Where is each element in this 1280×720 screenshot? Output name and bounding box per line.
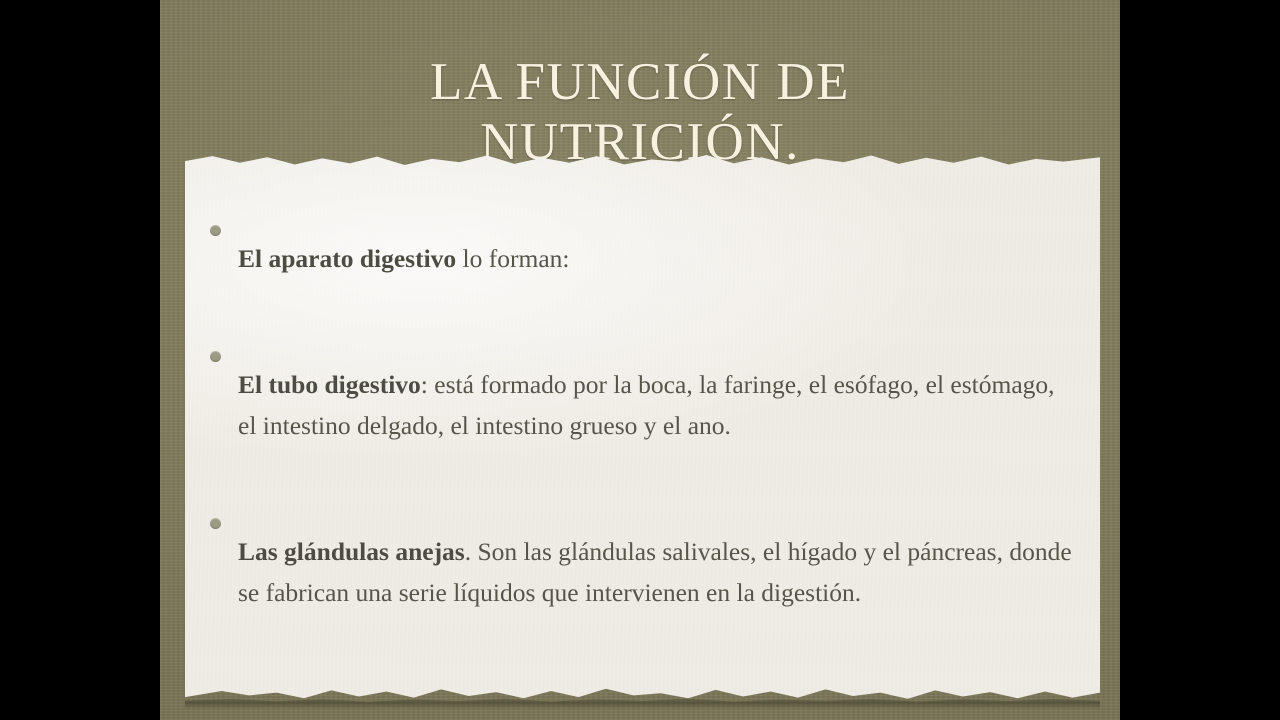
list-item: El tubo digestivo: está formado por la b… <box>210 338 1078 471</box>
bullet-lead: El aparato digestivo <box>238 244 456 273</box>
bullet-lead: El tubo digestivo <box>238 370 421 399</box>
list-item: El aparato digestivo lo forman: <box>210 212 1078 304</box>
presentation-stage: LA FUNCIÓN DE NUTRICIÓN. El aparato dige… <box>0 0 1280 720</box>
bullet-text: El aparato digestivo lo forman: <box>238 238 1078 279</box>
letterbox-right <box>1120 0 1280 720</box>
round-bullet-icon <box>210 225 221 236</box>
round-bullet-icon <box>210 351 221 362</box>
bullet-rest: lo forman: <box>456 244 569 273</box>
round-bullet-icon <box>210 518 221 529</box>
bullet-text: El tubo digestivo: está formado por la b… <box>238 364 1078 446</box>
bullet-list: El aparato digestivo lo forman: El tubo … <box>210 212 1078 638</box>
list-item: Las glándulas anejas. Son las glándulas … <box>210 505 1078 638</box>
slide-canvas: LA FUNCIÓN DE NUTRICIÓN. El aparato dige… <box>160 0 1120 720</box>
bullet-lead: Las glándulas anejas <box>238 537 465 566</box>
bullet-text: Las glándulas anejas. Son las glándulas … <box>238 531 1078 613</box>
letterbox-left <box>0 0 160 720</box>
paper-bottom-shadow <box>185 695 1100 709</box>
torn-paper-card: El aparato digestivo lo forman: El tubo … <box>185 150 1100 706</box>
